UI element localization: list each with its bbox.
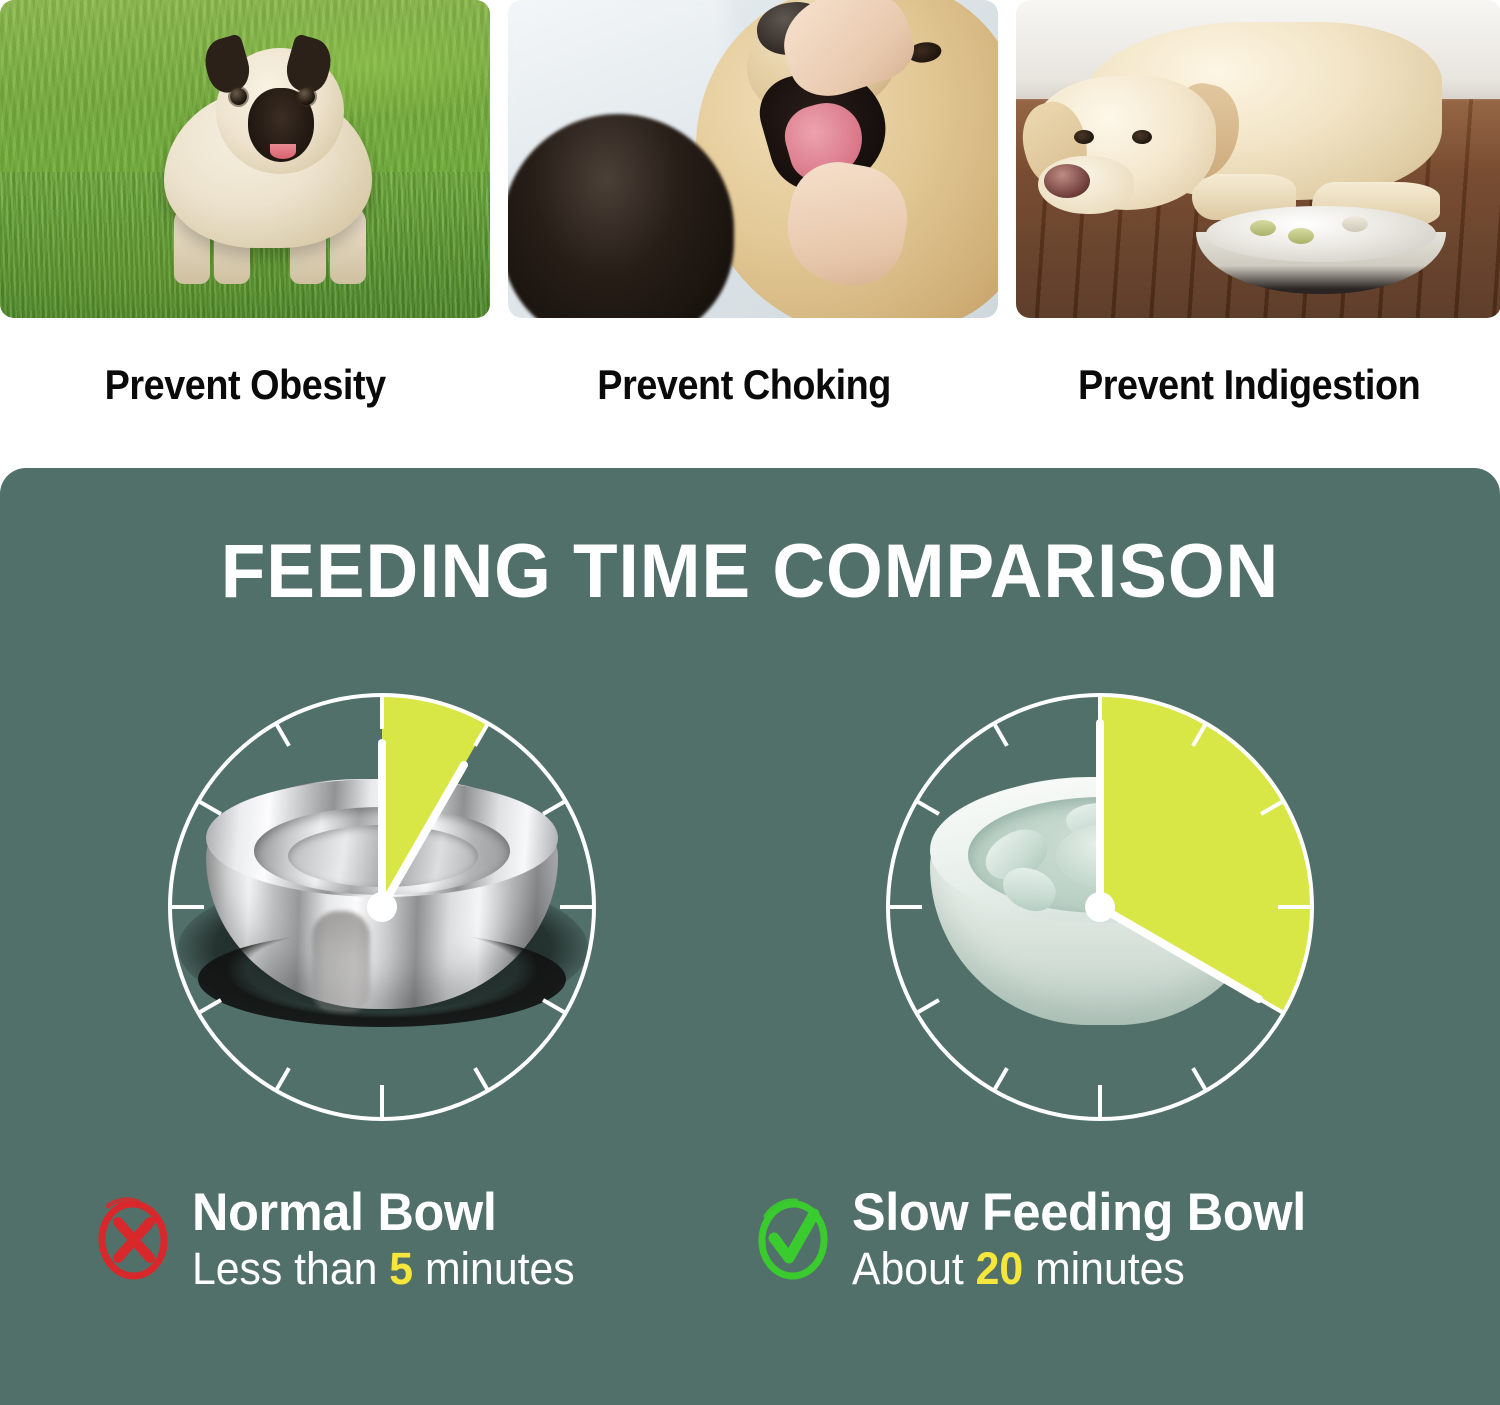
caption-prevent-indigestion: Prevent Indigestion: [1078, 361, 1420, 409]
photo-prevent-choking: [508, 0, 998, 318]
slow-bowl-dial: [880, 683, 1320, 1123]
photo-prevent-obesity: [0, 0, 490, 318]
result-title-slow-feeding-bowl: Slow Feeding Bowl: [852, 1186, 1306, 1240]
green-check-circle-icon: [756, 1196, 830, 1284]
benefit-caption-row: Prevent Obesity Prevent Choking Prevent …: [0, 340, 1500, 430]
sub-number-minutes: 5: [389, 1243, 413, 1294]
result-title-normal-bowl: Normal Bowl: [192, 1186, 575, 1240]
sub-prefix: Less than: [192, 1243, 377, 1294]
caption-prevent-choking: Prevent Choking: [597, 361, 891, 409]
result-subtitle-normal-bowl: Less than 5 minutes: [192, 1244, 575, 1294]
sub-number-minutes: 20: [976, 1243, 1024, 1294]
photo-prevent-indigestion: [1016, 0, 1500, 318]
result-slow-feeding-bowl: Slow Feeding Bowl About 20 minutes: [756, 1186, 1330, 1294]
result-slow-bowl-text: Slow Feeding Bowl About 20 minutes: [852, 1186, 1330, 1294]
caption-cell-indigestion: Prevent Indigestion: [998, 340, 1500, 430]
sub-suffix: minutes: [1035, 1243, 1185, 1294]
comparison-result-row: Normal Bowl Less than 5 minutes Slow Fee…: [0, 1186, 1500, 1326]
result-subtitle-slow-feeding-bowl: About 20 minutes: [852, 1244, 1306, 1294]
normal-bowl-dial: [162, 683, 602, 1123]
clinic-background: [508, 0, 998, 318]
result-normal-bowl: Normal Bowl Less than 5 minutes: [96, 1186, 595, 1294]
caption-prevent-obesity: Prevent Obesity: [104, 361, 385, 409]
sub-prefix: About: [852, 1243, 964, 1294]
steel-bowl-photo-illustration: [1196, 206, 1446, 302]
clock-comparison-row: [0, 683, 1500, 1133]
feeding-time-comparison-panel: FEEDING TIME COMPARISON: [0, 468, 1500, 1405]
page-title: FEEDING TIME COMPARISON: [30, 528, 1470, 615]
dial-center-dot: [1085, 892, 1115, 922]
caption-cell-obesity: Prevent Obesity: [0, 340, 490, 430]
result-normal-bowl-text: Normal Bowl Less than 5 minutes: [192, 1186, 595, 1294]
dial-center-dot: [367, 892, 397, 922]
slow-feeding-bowl-clock: [880, 683, 1320, 1123]
sub-suffix: minutes: [425, 1243, 575, 1294]
labrador-dog-illustration: [1022, 14, 1442, 234]
normal-bowl-clock: [162, 683, 602, 1123]
pug-dog-illustration: [152, 36, 384, 286]
caption-cell-choking: Prevent Choking: [490, 340, 998, 430]
benefit-photo-strip: [0, 0, 1500, 320]
red-x-circle-icon: [96, 1196, 170, 1284]
